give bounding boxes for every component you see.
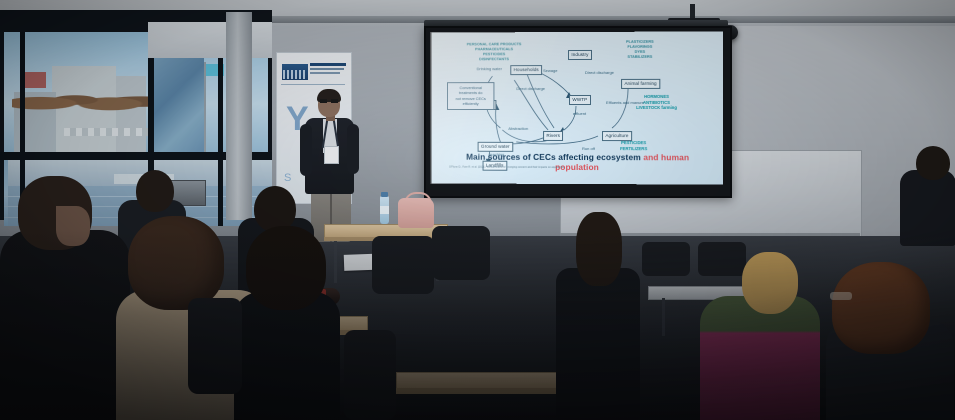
presenter-badge [324,146,339,164]
roller-blind [148,22,272,58]
chair [372,236,434,294]
slide-caption-main: Main sources of CECs affecting ecosystem [466,152,641,162]
node-rivers: Rivers [543,131,563,141]
pink-handbag [398,198,434,228]
presenter-arm-left [300,124,312,176]
chair [432,226,490,280]
node-industry: Industry [568,50,592,60]
banner-subletter: S [284,172,291,184]
bottle-cap [381,192,388,197]
structural-column [226,12,252,220]
agriculture-sources-group: PESTICIDES FERTILIZERS [620,140,647,151]
bottle-label [380,206,389,214]
classroom-presentation-scene: Industry Households Water works WWTP Ani… [0,0,955,420]
industry-sources-group: PLASTICIZERS FLAVORINGS DYES STABILIZERS [626,40,654,61]
projection-screen: Industry Households Water works WWTP Ani… [431,31,723,184]
chair [188,298,242,394]
node-ground-water: Ground water [478,142,513,152]
attendee-back-center-hair [136,170,174,212]
attendee-eyeglasses [830,292,852,300]
edge-label-run-off: Run off [582,146,595,151]
node-wwtp: WWTP [569,95,591,105]
attendee-front-left-body [0,230,130,420]
presenter-glasses [320,99,338,103]
attendee-curly-auburn-hair [832,262,930,354]
source-line: STABILIZERS [626,55,654,60]
attendee-far-right-body [900,170,955,246]
source-line: DISINFECTANTS [467,58,522,63]
source-line: PESTICIDES [620,140,647,146]
banner-text-bar [310,72,340,74]
window-mullion [218,32,223,226]
chair [344,330,396,420]
label-drinking-water: Drinking water [477,66,502,71]
slide-caption: Main sources of CECs affecting ecosystem… [447,152,709,173]
livestock-sources-group: HORMONES ANTIBIOTICS LIVESTOCK farming [636,94,677,111]
node-animal-farming: Animal farming [621,79,660,89]
edge-label-effluent: effluent [573,111,586,116]
attendee-center-right-hair [576,212,622,286]
attendee-blonde-body [700,296,820,420]
attendee-far-right-hair [916,146,950,180]
edge-label-sewage: Sewage [543,68,557,73]
attendee-curly-beige-hair [128,216,224,310]
banner-text-bar [310,68,344,70]
node-households: Households [510,65,542,75]
chair [698,242,746,276]
desk-leg [334,241,337,283]
building-awning [64,128,154,136]
household-sources-group: PERSONAL CARE PRODUCTS PHARMACEUTICALS P… [467,42,522,63]
banner-headline-bar [310,63,346,66]
chair [642,242,690,276]
presenter-arm-right [347,124,359,174]
callout-conventional-treatments: Conventional treatments do not remove CE… [447,82,494,110]
source-line: FERTILIZERS [620,146,647,152]
callout-line: efficiently [451,101,491,106]
edge-label-direct-discharge: Direct discharge [516,86,545,91]
edge-label-direct-discharge: Direct discharge [585,70,614,75]
edge-label-abstraction: Abstraction [508,126,528,131]
street-trees [12,84,152,116]
attendee-dark-center-body [234,292,340,420]
desk-leg [662,298,665,336]
attendee-center-right-body [556,268,640,420]
glass-tower-building [150,58,204,154]
banner-logo-bars [283,70,307,79]
attendee-front-left-face [56,206,90,246]
source-line: LIVESTOCK farming [636,105,677,111]
attendee-blonde-hair [742,252,798,314]
banner-divider [281,84,345,85]
attendee-dark-center-hair [246,226,326,310]
